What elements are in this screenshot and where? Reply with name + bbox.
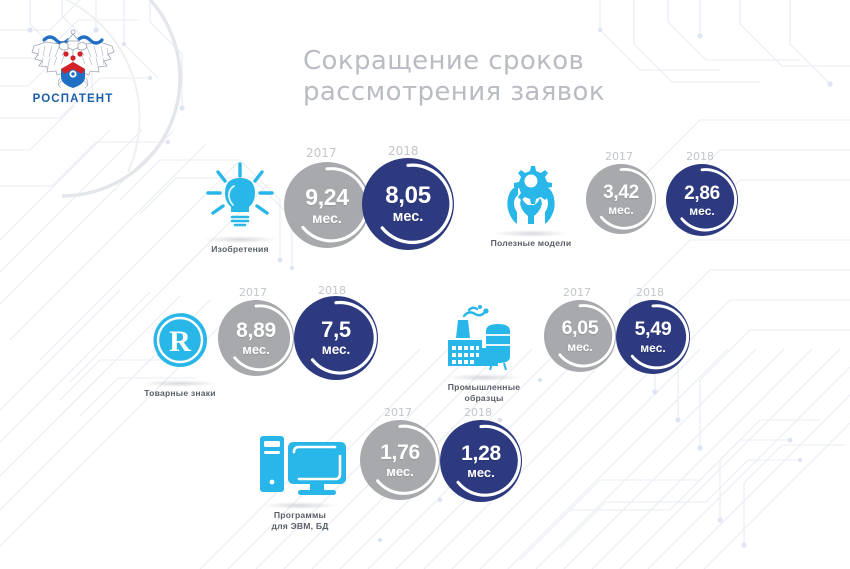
computer-programs-bubble-2018: 1,28 мес. [440,420,522,502]
industrial-designs-year-2018: 2018 [636,286,664,299]
utility-models-year-2017: 2017 [605,150,633,163]
inventions-value-2017: 9,24 [305,186,349,209]
trademarks-label: Товарные знаки [144,388,215,399]
computer-icon [248,432,352,500]
trademarks-icon-wrap: R Товарные знаки [142,306,218,383]
industrial-designs-value-2018: 5,49 [635,320,672,340]
computer-programs-value-2018: 1,28 [461,443,501,464]
infographic-canvas: РОСПАТЕНТ Сокращение сроков рассмотрения… [0,0,850,569]
trademarks-bubble-2018: 7,5 мес. [294,296,378,380]
trademarks-unit-2017: мес. [242,343,270,356]
utility-models-bubble-2017: 3,42 мес. [586,164,656,234]
icon-shadow [143,380,217,387]
group-utility-models: Полезные модели 2017 3,42 мес. 2018 2,86… [488,146,743,256]
group-computer-programs: Программы для ЭВМ, БД 2017 1,76 мес. 201… [248,404,518,534]
group-inventions: Изобретения 2017 9,24 мес. 2018 8,05 мес… [196,140,456,260]
industrial-designs-label-line2: образцы [464,393,503,403]
lightbulb-icon [196,160,284,232]
trademarks-year-2018: 2018 [318,284,346,297]
industrial-designs-bubble-2018: 5,49 мес. [616,300,690,374]
utility-models-year-2018: 2018 [686,150,714,163]
industrial-designs-unit-2017: мес. [567,341,592,353]
utility-models-value-2018: 2,86 [684,184,720,203]
icon-shadow [263,502,337,509]
inventions-year-2018: 2018 [388,144,419,158]
inventions-year-2017: 2017 [306,146,337,160]
trademarks-year-2017: 2017 [239,286,267,299]
industrial-designs-year-2017: 2017 [563,286,591,299]
factory-icon [436,302,532,372]
inventions-bubble-2018: 8,05 мес. [362,158,454,250]
page-title: Сокращение сроков рассмотрения заявок [303,46,723,108]
computer-programs-label-line2: для ЭВМ, БД [271,521,328,531]
industrial-designs-bubble-2017: 6,05 мес. [544,300,616,372]
computer-programs-unit-2018: мес. [467,466,495,479]
computer-programs-label: Программы для ЭВМ, БД [271,510,328,531]
trademarks-value-2017: 8,89 [236,320,276,341]
computer-programs-bubble-2017: 1,76 мес. [360,420,440,500]
inventions-unit-2017: мес. [312,211,342,225]
trademarks-value-2018: 7,5 [321,319,351,341]
hands-holding-gear-icon [488,160,574,226]
industrial-designs-label: Промышленные образцы [448,382,520,403]
computer-programs-value-2017: 1,76 [380,442,420,463]
trademarks-bubble-2017: 8,89 мес. [218,300,294,376]
inventions-label: Изобретения [211,244,268,255]
page-title-line1: Сокращение сроков [303,46,723,77]
utility-models-unit-2018: мес. [689,205,714,217]
brand-logo: РОСПАТЕНТ [18,28,128,118]
computer-programs-icon-wrap: Программы для ЭВМ, БД [248,432,352,505]
group-trademarks: R Товарные знаки 2017 8,89 мес. 2018 7,5… [126,282,376,402]
computer-programs-year-2018: 2018 [464,406,492,419]
group-industrial-designs: Промышленные образцы 2017 6,05 мес. 2018… [436,282,686,402]
inventions-icon-wrap: Изобретения [196,160,284,237]
inventions-unit-2018: мес. [393,210,424,225]
utility-models-bubble-2018: 2,86 мес. [666,164,738,236]
icon-shadow [447,374,521,381]
industrial-designs-label-line1: Промышленные [448,382,520,392]
industrial-designs-unit-2018: мес. [640,342,665,354]
registered-trademark-icon: R [142,306,218,378]
utility-models-value-2017: 3,42 [603,183,639,202]
utility-models-unit-2017: мес. [608,204,633,216]
inventions-bubble-2017: 9,24 мес. [284,162,370,248]
computer-programs-year-2017: 2017 [384,406,412,419]
inventions-value-2018: 8,05 [385,184,431,208]
utility-models-label: Полезные модели [491,238,572,249]
utility-models-icon-wrap: Полезные модели [488,160,574,231]
svg-text:R: R [169,325,191,358]
icon-shadow [494,230,568,237]
industrial-designs-icon-wrap: Промышленные образцы [436,302,532,377]
trademarks-unit-2018: мес. [322,343,351,357]
page-title-line2: рассмотрения заявок [303,77,723,108]
computer-programs-unit-2017: мес. [386,465,414,478]
industrial-designs-value-2017: 6,05 [562,319,599,339]
icon-shadow [203,236,277,243]
brand-name: РОСПАТЕНТ [18,93,128,105]
computer-programs-label-line1: Программы [274,510,326,520]
double-headed-eagle-emblem-icon [26,28,120,92]
